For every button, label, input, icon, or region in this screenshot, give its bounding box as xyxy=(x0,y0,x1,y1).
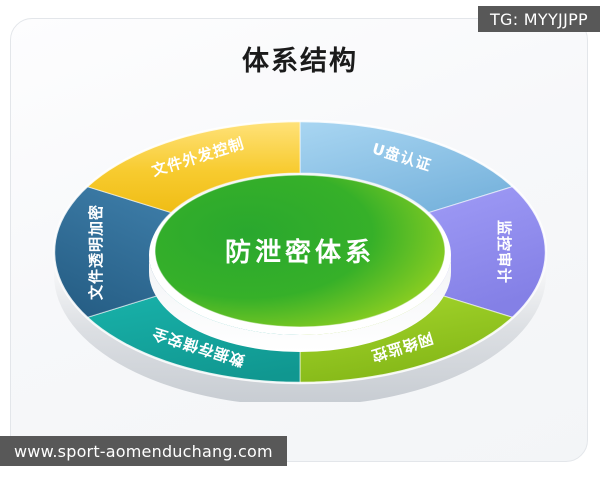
segment-label: 监控审计 xyxy=(495,220,513,284)
donut-chart: U盘认证监控审计网络监控数据存储安全文件透明加密文件外发控制 防泄密体系 xyxy=(36,112,564,402)
center-label: 防泄密体系 xyxy=(225,237,375,268)
segment-label: 文件透明加密 xyxy=(87,204,105,300)
donut-chart-svg: U盘认证监控审计网络监控数据存储安全文件透明加密文件外发控制 防泄密体系 xyxy=(36,112,564,402)
page-title: 体系结构 xyxy=(0,48,600,75)
watermark-bottom-left: www.sport-aomenduchang.com xyxy=(0,436,287,466)
screenshot-root: 体系结构 xyxy=(0,0,600,480)
watermark-top-right: TG: MYYJJPP xyxy=(478,6,600,32)
